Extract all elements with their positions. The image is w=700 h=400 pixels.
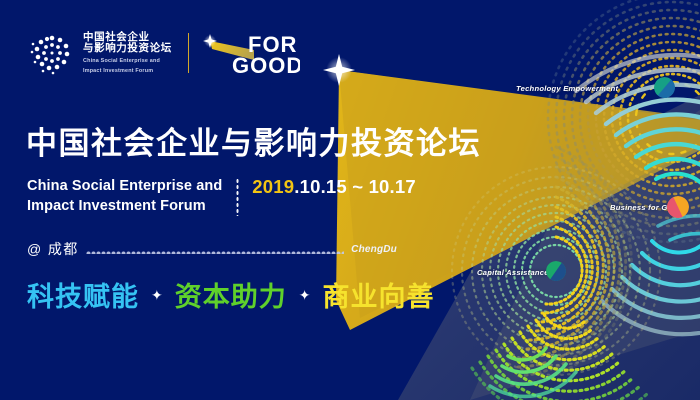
label-technology-empowerment: Technology Empowerment — [516, 84, 618, 93]
capital-assistance-dot-icon — [546, 261, 566, 281]
org-name-cn-line2: 与影响力投资论坛 — [83, 43, 172, 55]
logo-divider — [188, 33, 190, 73]
event-date-range: .10.15 ~ 10.17 — [294, 176, 416, 197]
for-good-badge[interactable]: FOR GOOD — [202, 30, 300, 76]
slogan-technology: 科技赋能 — [27, 281, 139, 313]
slogan-separator-1: ✦ — [151, 287, 163, 304]
title-en-line1: China Social Enterprise and — [27, 176, 222, 196]
business-for-good-dot-icon — [667, 196, 689, 218]
title-en-block: China Social Enterprise and Impact Inves… — [27, 176, 222, 216]
radial-dot-burst-logo-icon — [30, 31, 74, 75]
event-date-year: 2019 — [252, 176, 294, 197]
org-name-block: 中国社会企业 与影响力投资论坛 China Social Enterprise … — [83, 32, 172, 75]
title-en-line2: Impact Investment Forum — [27, 196, 222, 216]
label-capital-assistance: Capital Assistance — [477, 268, 549, 277]
slogan-separator-2: ✦ — [299, 287, 311, 304]
good-label: GOOD — [232, 53, 300, 76]
page-title: 中国社会企业与影响力投资论坛 — [26, 126, 481, 162]
org-name-en-line2: Impact Investment Forum — [83, 68, 172, 75]
technology-empowerment-dot-icon — [654, 77, 675, 98]
slogan-row: 科技赋能 ✦ 资本助力 ✦ 商业向善 — [27, 281, 434, 313]
venue-row: @ 成都 ChengDu — [27, 239, 397, 259]
slogan-business: 商业向善 — [322, 281, 434, 313]
org-name-en-line1: China Social Enterprise and — [83, 58, 172, 65]
header-logo-lockup[interactable]: 中国社会企业 与影响力投资论坛 China Social Enterprise … — [30, 28, 300, 78]
event-date: 2019.10.15 ~ 10.17 — [252, 176, 416, 197]
venue-cn: @ 成都 — [27, 239, 79, 259]
venue-en: ChengDu — [351, 244, 397, 255]
poster-canvas: 中国社会企业 与影响力投资论坛 China Social Enterprise … — [0, 0, 700, 400]
slogan-capital: 资本助力 — [175, 281, 287, 313]
subtitle-date-row: China Social Enterprise and Impact Inves… — [27, 176, 416, 216]
vertical-dot-divider — [236, 178, 239, 216]
venue-dotted-leader — [86, 245, 344, 254]
